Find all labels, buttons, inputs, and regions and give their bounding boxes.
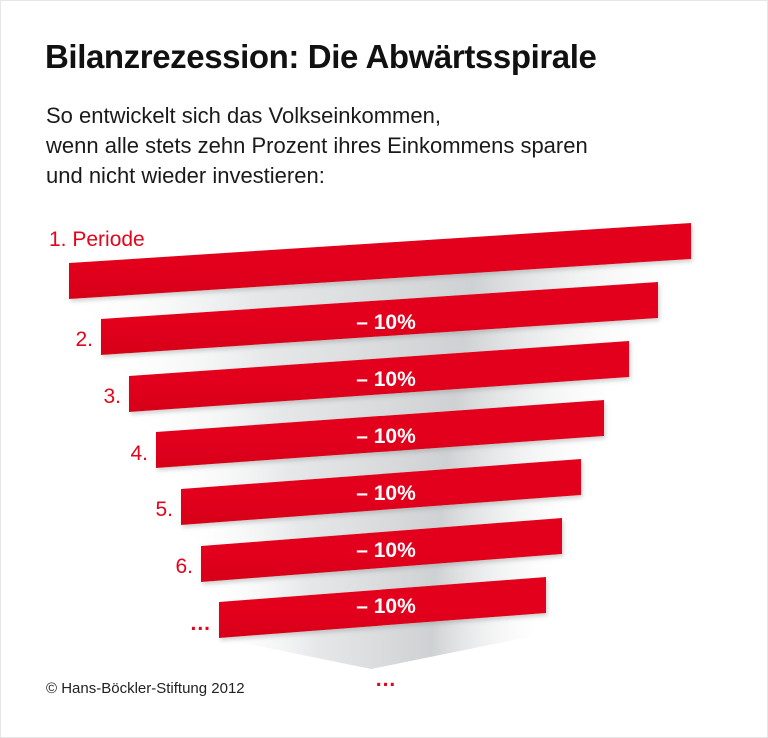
reduction-label-1: – 10% xyxy=(356,311,416,334)
period-label-7-ellipsis: ... xyxy=(190,612,211,635)
copyright-notice: © Hans-Böckler-Stiftung 2012 xyxy=(46,680,245,697)
reduction-label-4: – 10% xyxy=(356,482,416,505)
reduction-label-3: – 10% xyxy=(356,425,416,448)
period-label-1: 1. Periode xyxy=(49,228,145,251)
reduction-label-5: – 10% xyxy=(356,539,416,562)
infographic-canvas: Bilanzrezession: Die Abwärtsspirale So e… xyxy=(0,0,768,738)
period-label-5: 5. xyxy=(155,498,173,521)
period-label-3: 3. xyxy=(103,385,121,408)
downward-spiral-chart: 1. Periode 2. 3. 4. 5. 6. ... – 10% – 10… xyxy=(1,1,768,738)
reduction-label-6: – 10% xyxy=(356,595,416,618)
period-label-4: 4. xyxy=(130,442,148,465)
period-label-2: 2. xyxy=(75,328,93,351)
trailing-ellipsis-marker: ... xyxy=(376,668,397,691)
period-label-6: 6. xyxy=(175,555,193,578)
reduction-label-2: – 10% xyxy=(356,368,416,391)
